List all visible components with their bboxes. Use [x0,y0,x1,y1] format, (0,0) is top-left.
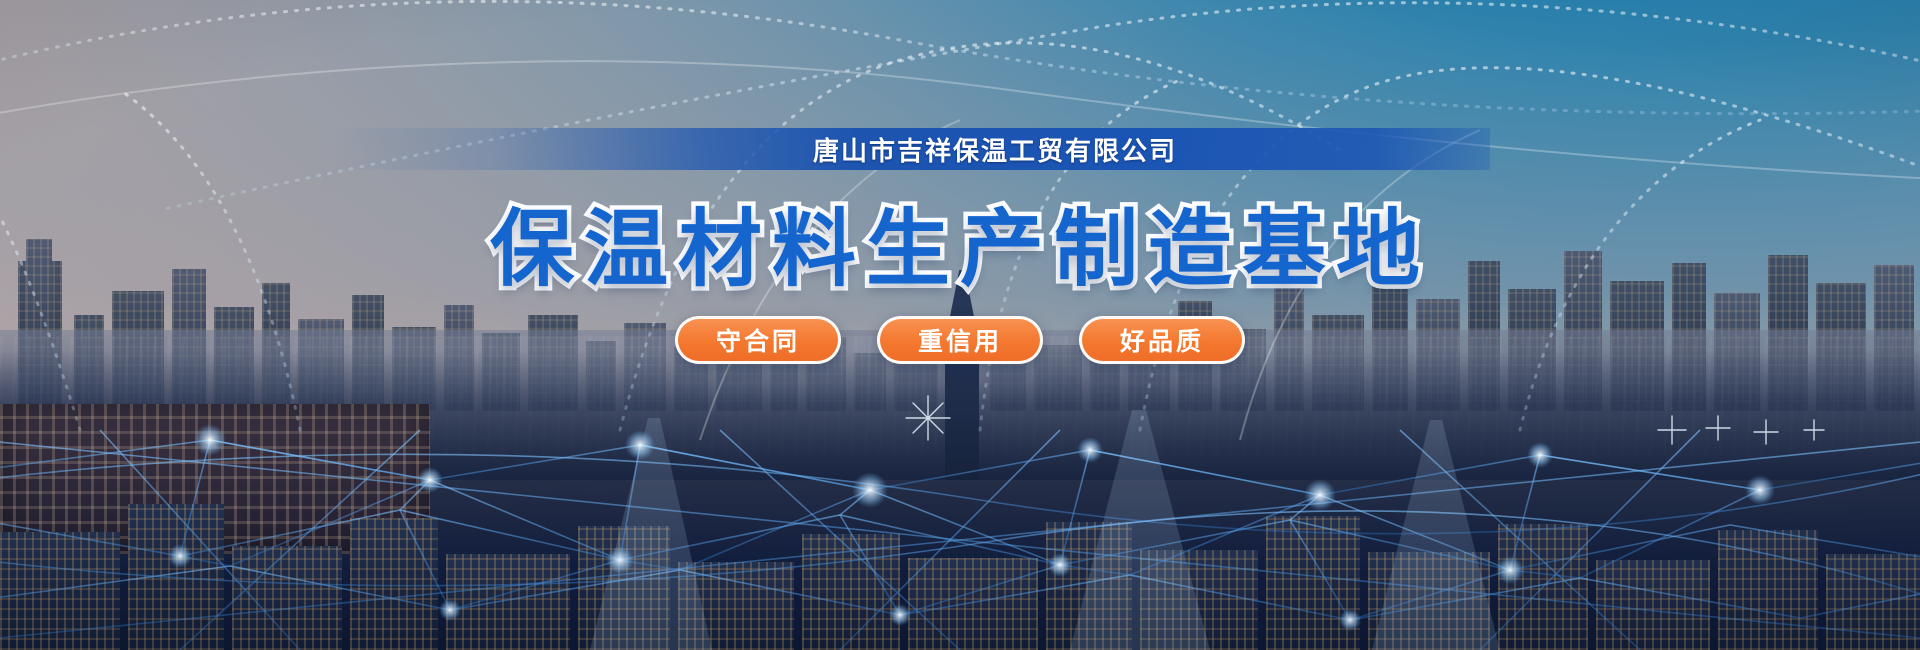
badge-hao-pin-zhi[interactable]: 好品质 [1079,316,1245,364]
badge-shou-he-tong[interactable]: 守合同 [675,316,841,364]
badge-zhong-xin-yong[interactable]: 重信用 [877,316,1043,364]
banner-headline-text: 保温材料生产制造基地 [490,202,1430,296]
banner-headline: 保温材料生产制造基地 [0,182,1920,303]
feature-badge-group: 守合同 重信用 好品质 [0,316,1920,364]
badge-label: 守合同 [716,322,800,358]
badge-label: 好品质 [1120,322,1204,358]
hero-banner: 唐山市吉祥保温工贸有限公司 保温材料生产制造基地 守合同 重信用 好品质 [0,0,1920,650]
badge-label: 重信用 [918,322,1002,358]
company-name-ribbon: 唐山市吉祥保温工贸有限公司 [330,128,1490,170]
banner-content: 唐山市吉祥保温工贸有限公司 保温材料生产制造基地 守合同 重信用 好品质 [0,0,1920,650]
company-name-text: 唐山市吉祥保温工贸有限公司 [330,128,1490,170]
